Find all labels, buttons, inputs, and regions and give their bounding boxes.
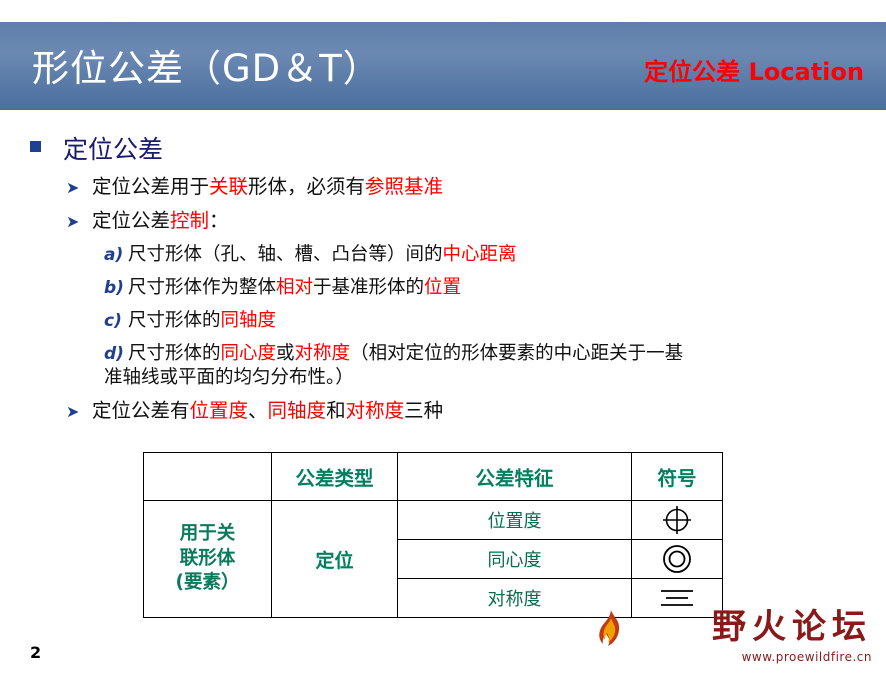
sub-item-b-text-1: 尺寸形体作为整体: [128, 277, 276, 298]
sub-item-d-red-1: 同心度: [221, 343, 277, 364]
sub-item-c-red-1: 同轴度: [221, 310, 277, 331]
bullet-item-2: ➤定位公差控制：: [66, 209, 886, 234]
table-header-type: 公差类型: [272, 453, 398, 501]
sub-item-a-marker: a): [104, 244, 128, 266]
section-heading-label: 定位公差: [63, 135, 163, 164]
first-col-line-1: 用于关: [144, 522, 271, 547]
position-symbol: [632, 501, 723, 540]
sub-item-c: c)尺寸形体的同轴度: [104, 309, 886, 333]
sub-item-d-red-2: 对称度: [295, 343, 351, 364]
table-corner-cell: [144, 453, 272, 501]
sub-item-a-red-1: 中心距离: [443, 244, 517, 265]
sub-item-c-marker: c): [104, 310, 128, 332]
arrow-bullet-icon: ➤: [66, 212, 84, 232]
bullet-3-red-1: 位置度: [190, 399, 249, 422]
bullet-2-text-1: 定位公差: [92, 209, 170, 232]
slide: 形位公差（GD＆T） 定位公差 Location 定位公差 ➤定位公差用于关联形…: [0, 0, 886, 674]
table-header-row: 公差类型 公差特征 符号: [144, 453, 723, 501]
sub-item-d: d)尺寸形体的同心度或对称度（相对定位的形体要素的中心距关于一基准轴线或平面的均…: [104, 342, 886, 390]
watermark-url: www.proewildfire.cn: [572, 650, 872, 664]
table-header-feature: 公差特征: [398, 453, 632, 501]
first-col-line-2: 联形体: [144, 547, 271, 572]
bullet-3-red-2: 同轴度: [268, 399, 327, 422]
bullet-3-text-3: 和: [326, 399, 346, 422]
sub-item-d-text-2: 或: [276, 343, 295, 364]
arrow-bullet-icon: ➤: [66, 178, 84, 198]
page-title: 形位公差（GD＆T）: [32, 38, 381, 92]
bullet-item-3: ➤定位公差有位置度、同轴度和对称度三种: [66, 399, 886, 424]
bullet-item-1: ➤定位公差用于关联形体，必须有参照基准: [66, 175, 886, 200]
sub-item-d-text-4: 准轴线或平面的均匀分布性。）: [104, 367, 354, 388]
bullet-1-red-2: 参照基准: [365, 175, 443, 198]
square-bullet-icon: [30, 141, 41, 152]
table-feature-2: 同心度: [398, 540, 632, 579]
table-first-col-label: 用于关 联形体 (要素）: [144, 501, 272, 618]
sub-item-d-text-1: 尺寸形体的: [128, 343, 221, 364]
sub-item-a-text-1: 尺寸形体（孔、轴、槽、凸台等）间的: [128, 244, 443, 265]
sub-item-b-red-1: 相对: [276, 277, 313, 298]
bullet-2-text-2: ：: [209, 209, 229, 232]
bullet-3-text-2: 、: [248, 399, 268, 422]
bullet-1-text-1: 定位公差用于: [92, 175, 209, 198]
header-topic-label: 定位公差 Location: [644, 52, 864, 87]
sub-item-b-marker: b): [104, 277, 128, 299]
tolerance-table: 公差类型 公差特征 符号 用于关 联形体 (要素） 定位 位置度 同心度: [143, 452, 723, 618]
section-heading: 定位公差: [30, 130, 886, 166]
sub-item-c-text-1: 尺寸形体的: [128, 310, 221, 331]
table-feature-1: 位置度: [398, 501, 632, 540]
table-header-symbol: 符号: [632, 453, 723, 501]
bullet-2-red-1: 控制: [170, 209, 209, 232]
bullet-3-red-3: 对称度: [346, 399, 405, 422]
arrow-bullet-icon: ➤: [66, 402, 84, 422]
sub-item-b-text-2: 于基准形体的: [313, 277, 424, 298]
sub-item-b: b)尺寸形体作为整体相对于基准形体的位置: [104, 276, 886, 300]
bullet-3-text-1: 定位公差有: [92, 399, 190, 422]
watermark-title: 野火论坛: [572, 610, 872, 644]
slide-body: 定位公差 ➤定位公差用于关联形体，必须有参照基准 ➤定位公差控制： a)尺寸形体…: [0, 112, 886, 424]
slide-header: 形位公差（GD＆T） 定位公差 Location: [0, 22, 886, 110]
page-number: 2: [30, 643, 41, 662]
watermark: 野火论坛 www.proewildfire.cn: [572, 610, 872, 664]
table-type-value: 定位: [272, 501, 398, 618]
sub-item-b-red-2: 位置: [424, 277, 461, 298]
sub-item-d-marker: d): [104, 343, 128, 365]
concentricity-symbol: [632, 540, 723, 579]
first-col-line-3: (要素）: [144, 571, 271, 596]
bullet-3-text-4: 三种: [404, 399, 443, 422]
bullet-1-text-2: 形体，必须有: [248, 175, 365, 198]
table-row: 用于关 联形体 (要素） 定位 位置度: [144, 501, 723, 540]
sub-item-d-text-3: （相对定位的形体要素的中心距关于一基: [350, 343, 683, 364]
sub-item-a: a)尺寸形体（孔、轴、槽、凸台等）间的中心距离: [104, 243, 886, 267]
bullet-1-red-1: 关联: [209, 175, 248, 198]
